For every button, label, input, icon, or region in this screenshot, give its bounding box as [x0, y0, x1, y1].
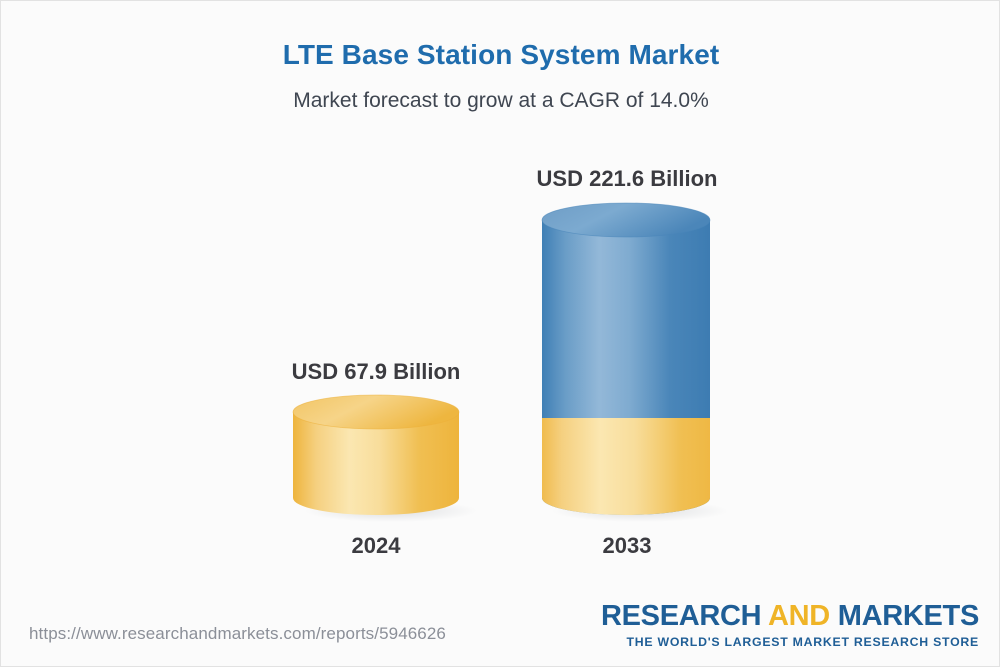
logo-tagline: THE WORLD'S LARGEST MARKET RESEARCH STOR… — [601, 636, 979, 648]
logo-word-research: RESEARCH — [601, 600, 768, 632]
logo-word-markets: MARKETS — [830, 600, 979, 632]
report-url[interactable]: https://www.researchandmarkets.com/repor… — [29, 624, 446, 644]
research-and-markets-logo[interactable]: RESEARCH AND MARKETS THE WORLD'S LARGEST… — [601, 602, 979, 648]
bar-value-label-2033: USD 221.6 Billion — [487, 166, 767, 192]
chart-plot-area: USD 67.9 Billion — [1, 1, 1000, 601]
bar-category-label-2033: 2033 — [487, 533, 767, 559]
logo-word-and: AND — [768, 600, 830, 632]
bar-cylinder-2033 — [535, 200, 727, 525]
bar-group-2033: USD 221.6 Billion — [1, 1, 1000, 601]
chart-canvas: LTE Base Station System Market Market fo… — [0, 0, 1000, 667]
logo-wordmark: RESEARCH AND MARKETS — [601, 602, 979, 631]
